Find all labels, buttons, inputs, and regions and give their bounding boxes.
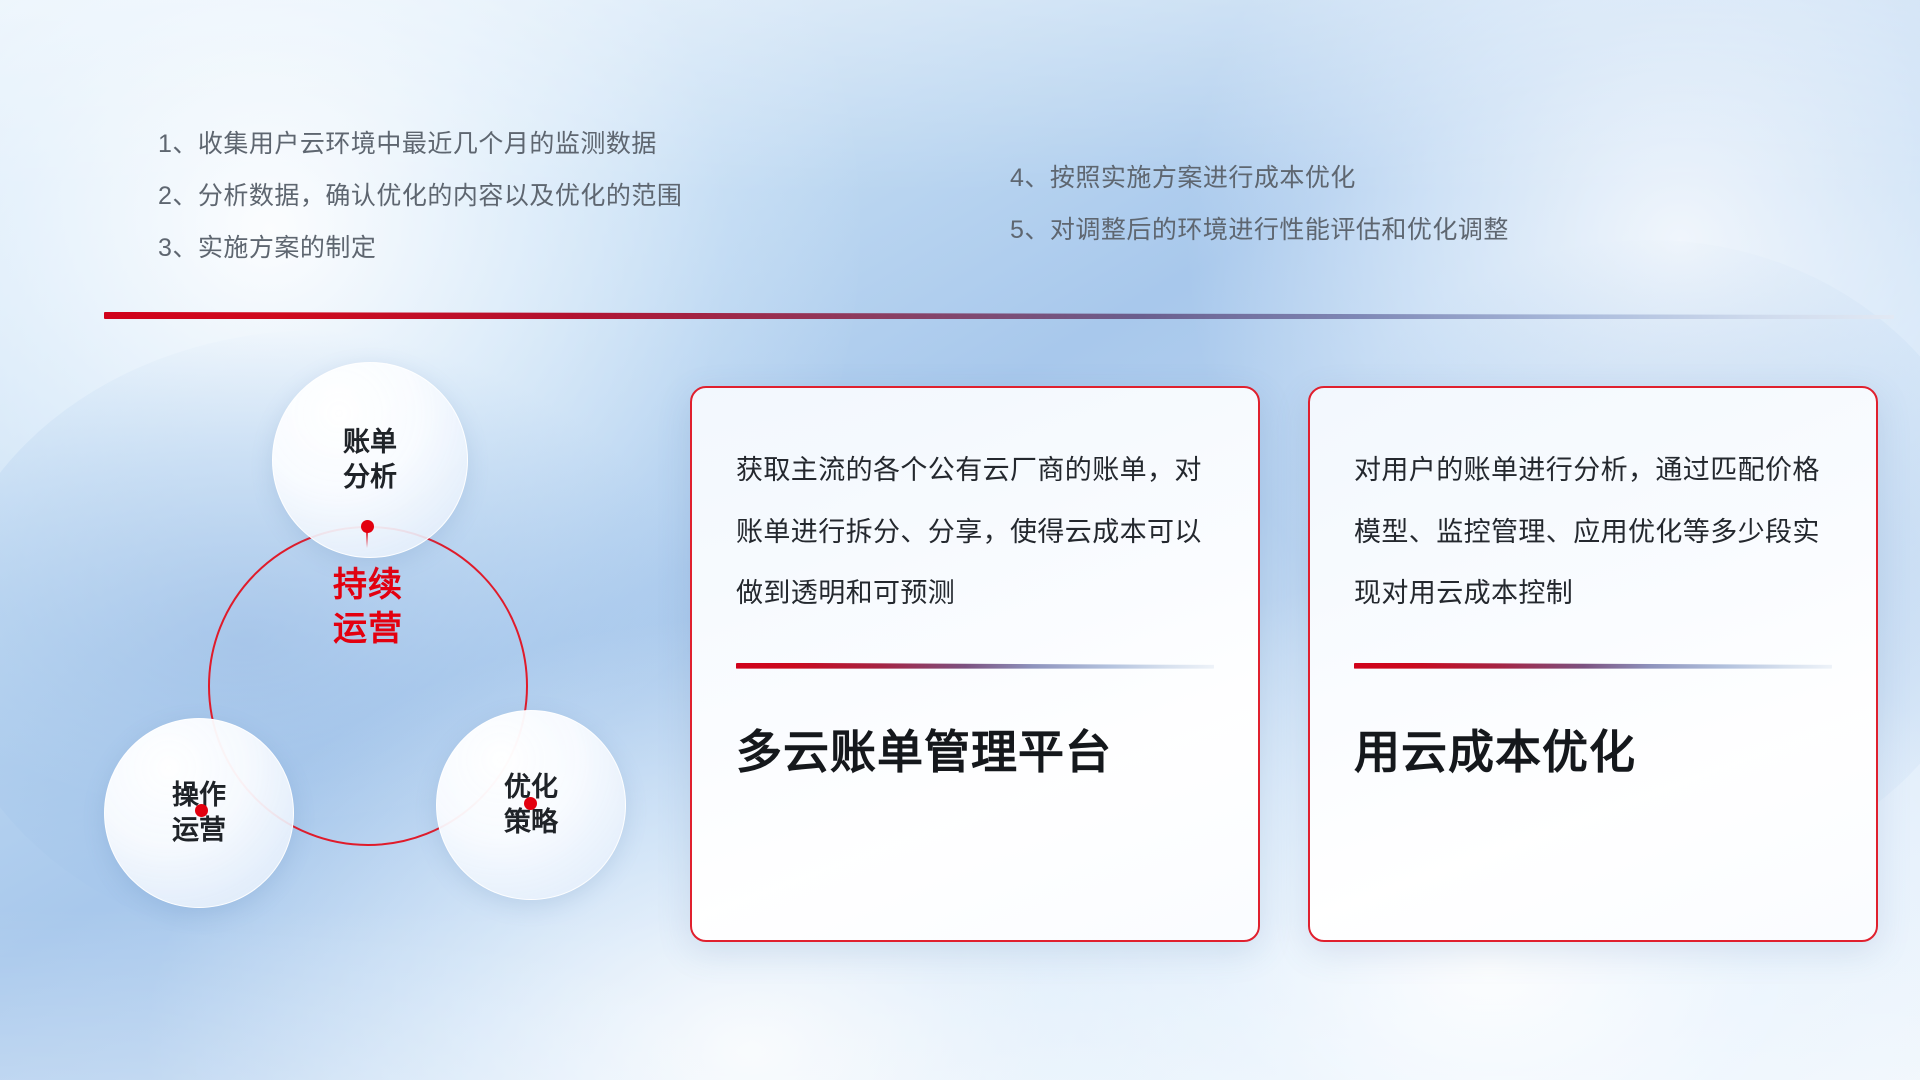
card-title: 用云成本优化 [1354,727,1832,778]
feature-card-cloud-cost-optimization[interactable]: 对用户的账单进行分析，通过匹配价格模型、监控管理、应用优化等多少段实现对用云成本… [1308,386,1878,942]
step-item: 4、按照实施方案进行成本优化 [1010,152,1509,204]
center-label-line1: 持续 [208,564,528,608]
diagram-dot-left [195,804,208,817]
step-text: 5、对调整后的环境进行性能评估和优化调整 [1010,218,1509,243]
node-label-line2: 分析 [343,460,397,495]
diagram-center-label: 持续 运营 [208,564,528,651]
step-text: 3、实施方案的制定 [158,236,376,261]
card-divider-rule [1354,663,1832,669]
node-label-line2: 策略 [504,805,558,840]
diagram-dot-top [361,520,374,533]
card-body-text: 对用户的账单进行分析，通过匹配价格模型、监控管理、应用优化等多少段实现对用云成本… [1354,440,1832,625]
card-title: 多云账单管理平台 [736,727,1214,778]
step-text: 2、分析数据，确认优化的内容以及优化的范围 [158,184,682,209]
card-divider-rule [736,663,1214,669]
step-text: 4、按照实施方案进行成本优化 [1010,166,1356,191]
steps-list-left: 1、收集用户云环境中最近几个月的监测数据 2、分析数据，确认优化的内容以及优化的… [158,118,682,274]
diagram-connector-tail [366,532,368,548]
step-item: 2、分析数据，确认优化的内容以及优化的范围 [158,170,682,222]
step-item: 3、实施方案的制定 [158,222,682,274]
center-label-line2: 运营 [208,608,528,652]
card-body-text: 获取主流的各个公有云厂商的账单，对账单进行拆分、分享，使得云成本可以做到透明和可… [736,440,1214,625]
feature-card-multicloud-billing[interactable]: 获取主流的各个公有云厂商的账单，对账单进行拆分、分享，使得云成本可以做到透明和可… [690,386,1260,942]
diagram-dot-right [524,797,537,810]
node-label-line2: 运营 [172,813,226,848]
step-item: 5、对调整后的环境进行性能评估和优化调整 [1010,204,1509,256]
step-item: 1、收集用户云环境中最近几个月的监测数据 [158,118,682,170]
node-label-line1: 账单 [343,425,397,460]
slide-canvas: 1、收集用户云环境中最近几个月的监测数据 2、分析数据，确认优化的内容以及优化的… [0,0,1920,1080]
continuous-operation-diagram: 持续 运营 账单 分析 操作 运营 优化 策略 [96,352,656,952]
steps-list-right: 4、按照实施方案进行成本优化 5、对调整后的环境进行性能评估和优化调整 [1010,152,1509,256]
step-text: 1、收集用户云环境中最近几个月的监测数据 [158,132,657,157]
